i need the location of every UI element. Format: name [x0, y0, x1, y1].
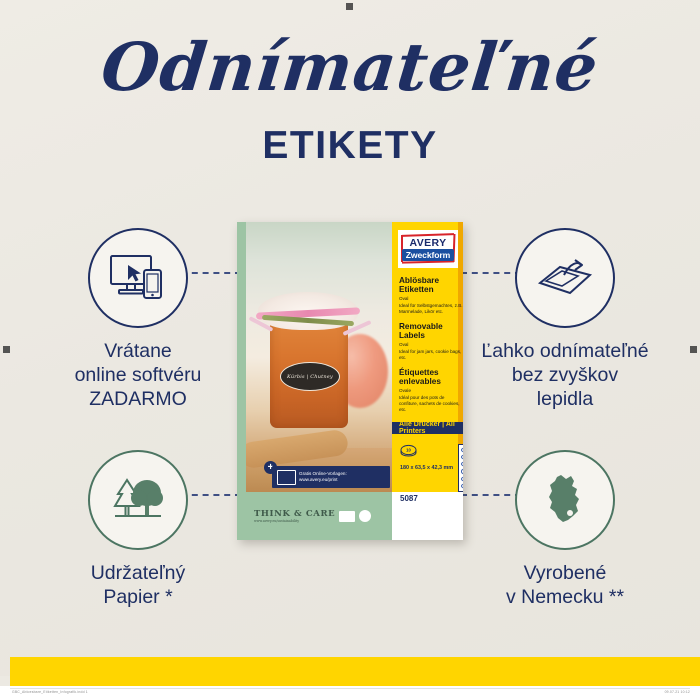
package-photo: Kürbis | Chutney: [246, 222, 392, 492]
zweckform-wordmark: Zweckform: [406, 250, 450, 260]
product-package: Kürbis | Chutney AVERY Zweckfo: [237, 222, 463, 540]
package-info-panel: AVERY Zweckform Ablösbare Etiketten Oval…: [392, 222, 463, 492]
online-templates-text: Gratis Online-Vorlagen: www.avery.eu/pri…: [296, 471, 347, 483]
package-description: Ideal für Selbstgemachtes, z.B. Marmelad…: [399, 303, 463, 315]
online-templates-bar: Gratis Online-Vorlagen: www.avery.eu/pri…: [272, 466, 390, 488]
footer-divider: [10, 688, 690, 689]
package-heading: Etiketten: [399, 285, 463, 294]
logo-red-frame: AVERY Zweckform: [401, 233, 455, 265]
feature-label-line: Vyrobené: [460, 562, 670, 586]
svg-text:10: 10: [406, 448, 411, 453]
footer-timestamp: 09.07.21 10:12: [665, 690, 690, 694]
quantity-text: 180 x 63,5 x 42,3 mm: [400, 465, 453, 473]
feature-label-line: ZADARMO: [33, 388, 243, 412]
bottom-yellow-bar: [10, 657, 700, 686]
device-icon: [277, 470, 296, 485]
label-sheet-icon: 18: [458, 444, 463, 492]
crop-mark-left: [3, 346, 10, 353]
feature-label-line: Papier *: [33, 586, 243, 610]
label-oval-grid: [461, 447, 463, 489]
avery-wordmark: AVERY: [401, 237, 455, 249]
feature-label-line: lepidla: [460, 388, 670, 412]
package-subtitle: Ovale: [399, 388, 463, 394]
package-heading: Ablösbare: [399, 276, 463, 285]
feature-label: Vyrobené v Nemecku **: [460, 562, 670, 610]
package-front: Kürbis | Chutney AVERY Zweckfo: [246, 222, 463, 540]
feature-label: Ľahko odnímateľné bez zvyškov lepidla: [460, 340, 670, 411]
package-text-de: Ablösbare Etiketten Oval Ideal für Selbs…: [399, 276, 463, 315]
package-spine: [237, 222, 246, 540]
sheet-stack-icon: 10: [400, 444, 417, 457]
dimensions-value: 63,5 x 42,3 mm: [415, 465, 453, 471]
quantity-value: 180 x: [400, 465, 414, 471]
package-subtitle: Oval: [399, 342, 463, 348]
online-templates-url: www.avery.eu/print: [299, 477, 347, 483]
feature-label-line: bez zvyškov: [460, 364, 670, 388]
feature-icon-circle: [515, 228, 615, 328]
peeling-label-icon: [534, 253, 596, 303]
printers-band-text: Alle Drucker | All Printers: [392, 421, 463, 435]
photo-jar-label: Kürbis | Chutney: [280, 362, 340, 391]
think-care-url: www.avery.eu/sustainability: [254, 519, 335, 523]
avery-zweckform-logo: AVERY Zweckform: [398, 230, 458, 268]
footer-filename: GBC_Abloesbare_Etiketten_Infografik.indd…: [12, 690, 88, 694]
page-title: Odnímateľné: [0, 34, 700, 100]
package-description: Idéal pour des pots de confiture, sachet…: [399, 395, 463, 414]
feature-removable: Ľahko odnímateľné bez zvyškov lepidla: [460, 228, 670, 411]
jar-label-text: Kürbis | Chutney: [287, 374, 333, 380]
zweckform-badge: Zweckform: [402, 249, 454, 261]
fsc-badge-icon: [339, 511, 355, 522]
feature-icon-circle: [88, 228, 188, 328]
sustainability-band: THINK & CARE www.avery.eu/sustainability: [246, 492, 392, 540]
package-subtitle: Oval: [399, 296, 463, 302]
feature-label-line: Ľahko odnímateľné: [460, 340, 670, 364]
package-heading: Labels: [399, 331, 463, 340]
feature-sustainable-paper: Udržateľný Papier *: [33, 450, 243, 610]
feature-label: Vrátane online softvéru ZADARMO: [33, 340, 243, 411]
poster-root: Odnímateľné ETIKETY Vrátane online softv…: [0, 0, 700, 700]
germany-map-icon: [541, 472, 589, 528]
feature-icon-circle: [88, 450, 188, 550]
crop-mark-top: [346, 3, 353, 10]
feature-icon-circle: [515, 450, 615, 550]
think-care-logo: THINK & CARE www.avery.eu/sustainability: [246, 509, 335, 523]
package-heading: Removable: [399, 322, 463, 331]
package-heading: enlevables: [399, 377, 463, 386]
feature-label-line: Udržateľný: [33, 562, 243, 586]
feature-label-line: Vrátane: [33, 340, 243, 364]
feature-label-line: online softvéru: [33, 364, 243, 388]
product-code: 5087: [400, 494, 418, 503]
monitor-phone-cursor-icon: [108, 252, 168, 304]
printers-compatibility-band: Alle Drucker | All Printers: [392, 422, 463, 434]
think-care-text: THINK & CARE: [254, 509, 335, 519]
trees-icon: [109, 474, 167, 526]
feature-label: Udržateľný Papier *: [33, 562, 243, 610]
package-text-en: Removable Labels Oval Ideal for jam jars…: [399, 322, 463, 361]
package-text-fr: Étiquettes enlevables Ovale Idéal pour d…: [399, 368, 463, 414]
page-subtitle: ETIKETY: [0, 124, 700, 168]
feature-label-line: v Nemecku **: [460, 586, 670, 610]
feature-online-software: Vrátane online softvéru ZADARMO: [33, 228, 243, 411]
feature-made-in-germany: Vyrobené v Nemecku **: [460, 450, 670, 610]
crop-mark-right: [690, 346, 697, 353]
package-heading: Étiquettes: [399, 368, 463, 377]
package-description: Ideal for jam jars, cookie bags, etc.: [399, 349, 463, 361]
co2-badge-icon: [359, 510, 371, 522]
